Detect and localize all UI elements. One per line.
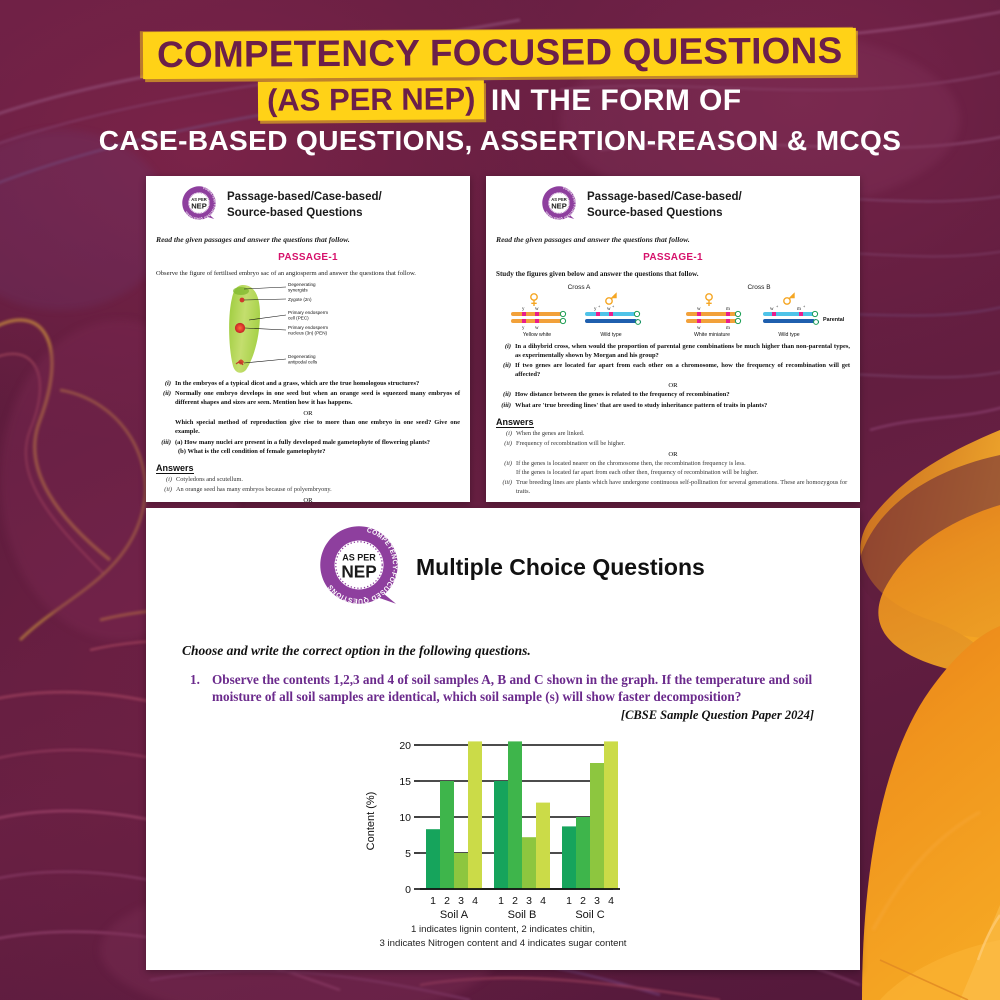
ytick-5: 5 xyxy=(405,848,411,860)
mcq-option-a-text: Soil Sample A xyxy=(219,965,297,970)
bar-group-soil-c xyxy=(562,741,618,889)
embryo-sac-diagram-icon: Degeneratingsynergids Zygote (2n) Primar… xyxy=(208,280,408,376)
cross-b-label: Cross B xyxy=(747,284,770,291)
svg-text:y: y xyxy=(522,307,525,312)
right-answer-3: (ii) If the genes is located nearer on t… xyxy=(496,460,850,469)
svg-text:w: w xyxy=(535,307,539,312)
nep-badge-icon: COMPETENCY-FOCUSED QUESTIONS AS PER NEP xyxy=(316,522,402,608)
passage-card-left: COMPETENCY-FOCUSED QUESTIONS AS PER NEP … xyxy=(146,176,470,502)
left-question-2: (ii) Normally one embryo develops in one… xyxy=(156,390,460,408)
group-label-soil-a: Soil A xyxy=(440,909,469,919)
svg-text:Degenerating: Degenerating xyxy=(288,282,316,287)
embryo-sac-figure: Degeneratingsynergids Zygote (2n) Primar… xyxy=(156,280,460,376)
xtick-b-3: 3 xyxy=(526,895,532,907)
right-or-divider: OR xyxy=(496,382,850,389)
left-questions: (i) In the embryos of a typical dicot an… xyxy=(156,380,460,457)
bar-soil-c-3 xyxy=(590,763,604,889)
page-header: COMPETENCY FOCUSED QUESTIONS (AS PER NEP… xyxy=(0,30,1000,157)
ytick-0: 0 xyxy=(405,884,411,896)
chart-caption-line1: 1 indicates lignin content, 2 indicates … xyxy=(172,923,834,937)
svg-text:NEP: NEP xyxy=(191,201,207,210)
soil-content-bar-chart: Content (%) 0 5 xyxy=(358,729,648,919)
left-or-question: Which special method of reproduction giv… xyxy=(156,419,460,437)
xtick-a-3: 3 xyxy=(458,895,464,907)
right-answers-heading: Answers xyxy=(496,417,534,428)
right-answer-2-text: Frequency of recombination will be highe… xyxy=(516,440,850,449)
right-question-2: (ii) If two genes are located far apart … xyxy=(496,362,850,380)
mcq-card: COMPETENCY-FOCUSED QUESTIONS AS PER NEP … xyxy=(146,508,860,970)
left-answer-2-num: (ii) xyxy=(156,486,172,495)
svg-text:Degenerating: Degenerating xyxy=(288,354,316,359)
left-question-3-num: (iii) xyxy=(156,439,171,457)
mcq-option-a-label: (a) xyxy=(194,965,212,970)
chart-ylabel: Content (%) xyxy=(365,791,377,850)
right-questions: (i) In a dihybrid cross, when would the … xyxy=(496,343,850,411)
header-line2: (AS PER NEP)IN THE FORM OF xyxy=(0,81,1000,120)
svg-text:+: + xyxy=(598,304,601,309)
parental-label: Parental xyxy=(823,317,845,323)
mcq-instruction: Choose and write the correct option in t… xyxy=(182,643,834,659)
left-card-title: Passage-based/Case-based/ Source-based Q… xyxy=(227,190,382,221)
right-instruction: Read the given passages and answer the q… xyxy=(496,235,850,244)
left-question-2-num: (ii) xyxy=(156,390,171,408)
bar-group-soil-b xyxy=(494,741,550,889)
left-answer-1: (i) Cotyledons and scutellum. xyxy=(156,476,460,485)
mcq-body: Choose and write the correct option in t… xyxy=(146,613,860,970)
header-line2-highlight: (AS PER NEP) xyxy=(258,80,485,121)
svg-text:Zygote (2n): Zygote (2n) xyxy=(288,297,312,302)
right-question-3-text: What are 'true breeding lines' that are … xyxy=(515,402,850,411)
left-question-1-num: (i) xyxy=(156,380,171,389)
xtick-b-2: 2 xyxy=(512,895,518,907)
left-lead: Observe the figure of fertilised embryo … xyxy=(156,270,460,277)
svg-text:nucleus (3n) (PEN): nucleus (3n) (PEN) xyxy=(288,331,328,336)
ytick-20: 20 xyxy=(399,740,411,752)
mcq-question-1-number: 1. xyxy=(190,671,204,706)
nep-badge-icon: COMPETENCY-FOCUSED QUESTIONS AS PER NEP xyxy=(540,184,578,222)
xtick-b-4: 4 xyxy=(540,895,546,907)
left-question-3-text: (a) How many nuclei are present in a ful… xyxy=(175,439,460,457)
left-card-header: COMPETENCY-FOCUSED QUESTIONS AS PER NEP … xyxy=(146,176,470,231)
nep-badge-icon: COMPETENCY-FOCUSED QUESTIONS AS PER NEP xyxy=(180,184,218,222)
xtick-a-4: 4 xyxy=(472,895,478,907)
svg-text:cell (PEC): cell (PEC) xyxy=(288,316,309,321)
svg-text:+: + xyxy=(776,304,779,309)
svg-text:y: y xyxy=(594,307,597,312)
bar-soil-a-1 xyxy=(426,829,440,889)
xtick-a-1: 1 xyxy=(430,895,436,907)
right-question-1-text: In a dihybrid cross, when would the prop… xyxy=(515,343,850,361)
svg-text:m: m xyxy=(726,326,730,331)
bar-soil-b-1 xyxy=(494,781,508,889)
header-line1: COMPETENCY FOCUSED QUESTIONS xyxy=(0,30,1000,77)
right-card-title: Passage-based/Case-based/ Source-based Q… xyxy=(587,190,742,221)
right-question-2-text: If two genes are located far apart from … xyxy=(515,362,850,380)
right-card-title-line2: Source-based Questions xyxy=(587,206,742,222)
group-label-soil-c: Soil C xyxy=(575,909,604,919)
mcq-option-a[interactable]: (a) Soil Sample A xyxy=(194,965,514,970)
right-card-body: Read the given passages and answer the q… xyxy=(486,235,860,496)
left-answer-2: (ii) An orange seed has many embryos bec… xyxy=(156,486,460,495)
right-or-question-num: (ii) xyxy=(496,391,511,400)
left-question-3a: (a) How many nuclei are present in a ful… xyxy=(175,439,460,448)
right-question-1-num: (i) xyxy=(496,343,511,361)
left-passage-label: PASSAGE-1 xyxy=(156,252,460,263)
right-or-question: (ii) How distance between the genes is r… xyxy=(496,391,850,400)
right-lead: Study the figures given below and answer… xyxy=(496,270,850,278)
right-card-header: COMPETENCY-FOCUSED QUESTIONS AS PER NEP … xyxy=(486,176,860,231)
chromosome-cross-diagram-icon: Cross A Cross B xyxy=(497,281,849,339)
right-answer-4: If the genes is located far apart from e… xyxy=(496,469,850,478)
mcq-options: (a) Soil Sample A (b) Soil Sample B (c) … xyxy=(194,965,834,970)
left-answers-or: OR xyxy=(156,497,460,502)
svg-text:Yellow white: Yellow white xyxy=(523,332,551,338)
right-question-2-num: (ii) xyxy=(496,362,511,380)
left-answers-heading: Answers xyxy=(156,463,194,474)
left-answer-1-text: Cotyledons and scutellum. xyxy=(176,476,460,485)
right-answer-3-text: If the genes is located nearer on the ch… xyxy=(516,460,850,469)
xtick-c-4: 4 xyxy=(608,895,614,907)
xtick-c-2: 2 xyxy=(580,895,586,907)
left-question-1-text: In the embryos of a typical dicot and a … xyxy=(175,380,460,389)
right-card-title-line1: Passage-based/Case-based/ xyxy=(587,190,742,206)
right-question-1: (i) In a dihybrid cross, when would the … xyxy=(496,343,850,361)
nep-badge-mcq: COMPETENCY-FOCUSED QUESTIONS AS PER NEP xyxy=(316,522,402,613)
left-or-divider: OR xyxy=(156,410,460,417)
svg-text:+: + xyxy=(612,304,615,309)
passage-card-right: COMPETENCY-FOCUSED QUESTIONS AS PER NEP … xyxy=(486,176,860,502)
left-question-3b: (b) What is the cell condition of female… xyxy=(175,448,460,457)
right-answer-2-num: (ii) xyxy=(496,440,512,449)
right-answer-1: (i) When the genes are linked. xyxy=(496,430,850,439)
right-answer-5-num: (iii) xyxy=(496,479,512,496)
svg-text:w: w xyxy=(770,307,774,312)
bar-soil-a-4 xyxy=(468,741,482,889)
svg-text:+: + xyxy=(803,304,806,309)
xtick-c-3: 3 xyxy=(594,895,600,907)
left-answer-1-num: (i) xyxy=(156,476,172,485)
svg-text:antipodal cells: antipodal cells xyxy=(288,360,318,365)
mcq-option-b-label: (b) xyxy=(514,965,532,970)
mcq-question-1: 1. Observe the contents 1,2,3 and 4 of s… xyxy=(190,671,834,706)
bar-soil-a-3 xyxy=(454,853,468,889)
nep-badge-left: COMPETENCY-FOCUSED QUESTIONS AS PER NEP xyxy=(180,184,218,227)
right-answer-4-text: If the genes is located far apart from e… xyxy=(516,469,850,478)
mcq-title: Multiple Choice Questions xyxy=(416,554,705,581)
header-line1-highlight: COMPETENCY FOCUSED QUESTIONS xyxy=(143,28,857,79)
header-line2-plain: IN THE FORM OF xyxy=(485,84,742,117)
xtick-b-1: 1 xyxy=(498,895,504,907)
right-answer-1-num: (i) xyxy=(496,430,512,439)
left-card-title-line1: Passage-based/Case-based/ xyxy=(227,190,382,206)
bar-soil-b-4 xyxy=(536,802,550,888)
left-question-1: (i) In the embryos of a typical dicot an… xyxy=(156,380,460,389)
chart-caption: 1 indicates lignin content, 2 indicates … xyxy=(172,923,834,951)
xtick-a-2: 2 xyxy=(444,895,450,907)
bar-soil-b-3 xyxy=(522,837,536,889)
right-answer-5-text: True breeding lines are plants which hav… xyxy=(516,479,850,496)
right-question-3-num: (iii) xyxy=(496,402,511,411)
bar-soil-a-2 xyxy=(440,781,454,889)
svg-text:Primary endosperm: Primary endosperm xyxy=(288,325,328,330)
mcq-option-b-text: Soil Sample B xyxy=(539,965,617,970)
bar-soil-c-4 xyxy=(604,741,618,889)
bar-group-soil-a xyxy=(426,741,482,889)
svg-text:w: w xyxy=(697,307,701,312)
dihybrid-cross-figure: Cross A Cross B xyxy=(496,281,850,339)
svg-text:m: m xyxy=(726,307,730,312)
right-answer-5: (iii) True breeding lines are plants whi… xyxy=(496,479,850,496)
svg-text:w: w xyxy=(607,307,611,312)
svg-text:Wild type: Wild type xyxy=(600,332,621,338)
right-answer-3-num: (ii) xyxy=(496,460,512,469)
svg-text:synergids: synergids xyxy=(288,288,308,293)
soil-content-chart: Content (%) 0 5 xyxy=(172,729,834,919)
left-answers: (i) Cotyledons and scutellum. (ii) An or… xyxy=(156,476,460,502)
right-answers: (i) When the genes are linked. (ii) Freq… xyxy=(496,430,850,496)
bar-soil-c-1 xyxy=(562,826,576,889)
bar-soil-c-2 xyxy=(576,817,590,889)
group-label-soil-b: Soil B xyxy=(508,909,537,919)
right-answer-1-text: When the genes are linked. xyxy=(516,430,850,439)
chart-caption-line2: 3 indicates Nitrogen content and 4 indic… xyxy=(172,937,834,951)
mcq-question-source: [CBSE Sample Question Paper 2024] xyxy=(172,708,814,723)
right-question-3: (iii) What are 'true breeding lines' tha… xyxy=(496,402,850,411)
svg-text:w: w xyxy=(535,326,539,331)
left-card-title-line2: Source-based Questions xyxy=(227,206,382,222)
left-or-question-text: Which special method of reproduction giv… xyxy=(175,419,460,437)
svg-text:Wild type: Wild type xyxy=(778,332,799,338)
left-or-question-num xyxy=(156,419,171,437)
svg-text:y: y xyxy=(522,326,525,331)
right-answers-or: OR xyxy=(496,451,850,458)
xtick-c-1: 1 xyxy=(566,895,572,907)
svg-text:White miniature: White miniature xyxy=(694,332,730,338)
left-answer-2-text: An orange seed has many embryos because … xyxy=(176,486,460,495)
header-line3: CASE-BASED QUESTIONS, ASSERTION-REASON &… xyxy=(0,126,1000,157)
left-question-2-text: Normally one embryo develops in one seed… xyxy=(175,390,460,408)
right-answer-4-num xyxy=(496,469,512,478)
mcq-header: COMPETENCY-FOCUSED QUESTIONS AS PER NEP … xyxy=(146,508,860,613)
right-passage-label: PASSAGE-1 xyxy=(496,252,850,263)
svg-text:w: w xyxy=(697,326,701,331)
ytick-15: 15 xyxy=(399,776,411,788)
mcq-option-b[interactable]: (b) Soil Sample B xyxy=(514,965,834,970)
right-answer-2: (ii) Frequency of recombination will be … xyxy=(496,440,850,449)
ytick-10: 10 xyxy=(399,812,411,824)
left-instruction: Read the given passages and answer the q… xyxy=(156,235,460,244)
right-or-question-text: How distance between the genes is relate… xyxy=(515,391,850,400)
nep-badge-right: COMPETENCY-FOCUSED QUESTIONS AS PER NEP xyxy=(540,184,578,227)
svg-text:m: m xyxy=(797,307,801,312)
svg-text:Primary endosperm: Primary endosperm xyxy=(288,310,328,315)
left-question-3: (iii) (a) How many nuclei are present in… xyxy=(156,439,460,457)
svg-text:NEP: NEP xyxy=(551,201,567,210)
bar-soil-b-2 xyxy=(508,741,522,889)
mcq-question-1-text: Observe the contents 1,2,3 and 4 of soil… xyxy=(212,671,834,706)
svg-text:NEP: NEP xyxy=(341,561,376,581)
left-card-body: Read the given passages and answer the q… xyxy=(146,235,470,502)
cross-a-label: Cross A xyxy=(568,284,591,291)
